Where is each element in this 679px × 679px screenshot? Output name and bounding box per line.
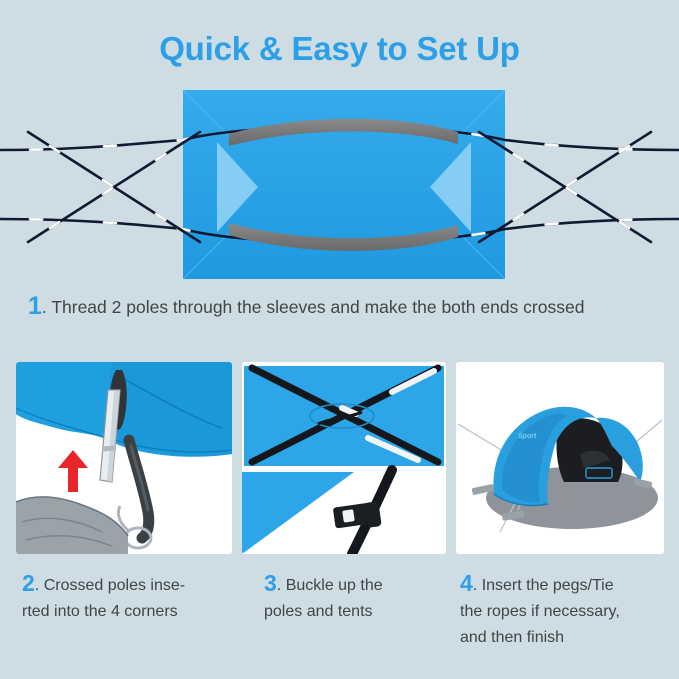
pole-cross-left: [28, 132, 200, 242]
step1-separator: .: [42, 297, 51, 317]
step4-image-panel: Sport: [456, 362, 664, 554]
step3-separator: .: [277, 577, 286, 594]
step2-separator: .: [35, 577, 44, 594]
step3-text-line-1: Buckle up the: [286, 577, 383, 594]
page-title: Quick & Easy to Set Up: [0, 30, 679, 68]
step4-text-line-3: and then finish: [460, 625, 675, 651]
finished-tent-photo: Sport: [456, 362, 664, 554]
step3-text-line-2: poles and tents: [264, 599, 454, 625]
step4-number: 4: [460, 570, 473, 596]
step4-text-line-1: Insert the pegs/Tie: [482, 577, 614, 594]
step3-number: 3: [264, 570, 277, 596]
step4-text-line-2: the ropes if necessary,: [460, 599, 675, 625]
step4-caption: 4. Insert the pegs/Tie the ropes if nece…: [460, 570, 675, 651]
step2-image-panel: [16, 362, 232, 554]
step2-caption-line-1: 2. Crossed poles inse-: [22, 570, 242, 599]
tent-topview-svg: [0, 82, 679, 287]
buckle-poles-photo: [242, 362, 446, 554]
step2-text-line-2: rted into the 4 corners: [22, 599, 242, 625]
step1-text: Thread 2 poles through the sleeves and m…: [51, 297, 584, 317]
step2-number: 2: [22, 570, 35, 596]
infographic-page: Quick & Easy to Set Up: [0, 0, 679, 679]
step2-caption: 2. Crossed poles inse- rted into the 4 c…: [22, 570, 242, 625]
step4-caption-line-1: 4. Insert the pegs/Tie: [460, 570, 675, 599]
step2-text-line-1: Crossed poles inse-: [44, 577, 185, 594]
step4-separator: .: [473, 577, 482, 594]
step1-number: 1: [28, 292, 42, 320]
pole-into-corner-photo: [16, 362, 232, 554]
step1-diagram: [0, 82, 679, 287]
step1-caption: 1. Thread 2 poles through the sleeves an…: [28, 292, 668, 321]
brand-logo: Sport: [518, 433, 537, 440]
step3-caption: 3. Buckle up the poles and tents: [264, 570, 454, 625]
step3-image-panel: [242, 362, 446, 554]
step3-caption-line-1: 3. Buckle up the: [264, 570, 454, 599]
